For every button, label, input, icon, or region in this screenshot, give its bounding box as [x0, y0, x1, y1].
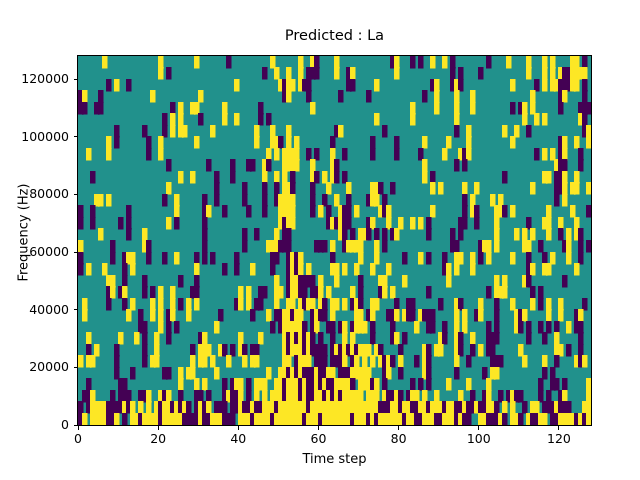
y-axis-label: Frequency (Hz) — [17, 133, 32, 333]
x-tick-mark — [78, 426, 79, 430]
y-tick-mark — [74, 79, 78, 80]
y-tick-label: 60000 — [29, 245, 69, 258]
x-tick-label: 80 — [391, 432, 407, 445]
y-tick-label: 120000 — [21, 72, 69, 85]
heatmap-image — [78, 56, 591, 425]
x-tick-mark — [398, 426, 399, 430]
y-tick-label: 80000 — [29, 187, 69, 200]
x-tick-mark — [478, 426, 479, 430]
y-tick-mark — [74, 136, 78, 137]
x-tick-label: 20 — [150, 432, 166, 445]
x-tick-mark — [558, 426, 559, 430]
y-tick-label: 20000 — [29, 360, 69, 373]
x-tick-label: 60 — [311, 432, 327, 445]
x-tick-label: 0 — [74, 432, 82, 445]
y-tick-mark — [74, 252, 78, 253]
x-tick-mark — [318, 426, 319, 430]
x-tick-mark — [238, 426, 239, 430]
y-tick-label: 0 — [61, 418, 69, 431]
figure-canvas: Predicted : La 0200004000060000800001000… — [0, 0, 640, 480]
y-tick-label: 40000 — [29, 303, 69, 316]
y-tick-mark — [74, 194, 78, 195]
x-axis-label: Time step — [77, 452, 592, 467]
y-tick-mark — [74, 425, 78, 426]
y-tick-mark — [74, 309, 78, 310]
x-tick-label: 120 — [547, 432, 571, 445]
page-title: Predicted : La — [77, 27, 592, 45]
y-tick-mark — [74, 367, 78, 368]
x-tick-label: 100 — [467, 432, 491, 445]
heatmap-plot-area — [77, 55, 592, 426]
x-tick-label: 40 — [230, 432, 246, 445]
x-tick-mark — [158, 426, 159, 430]
